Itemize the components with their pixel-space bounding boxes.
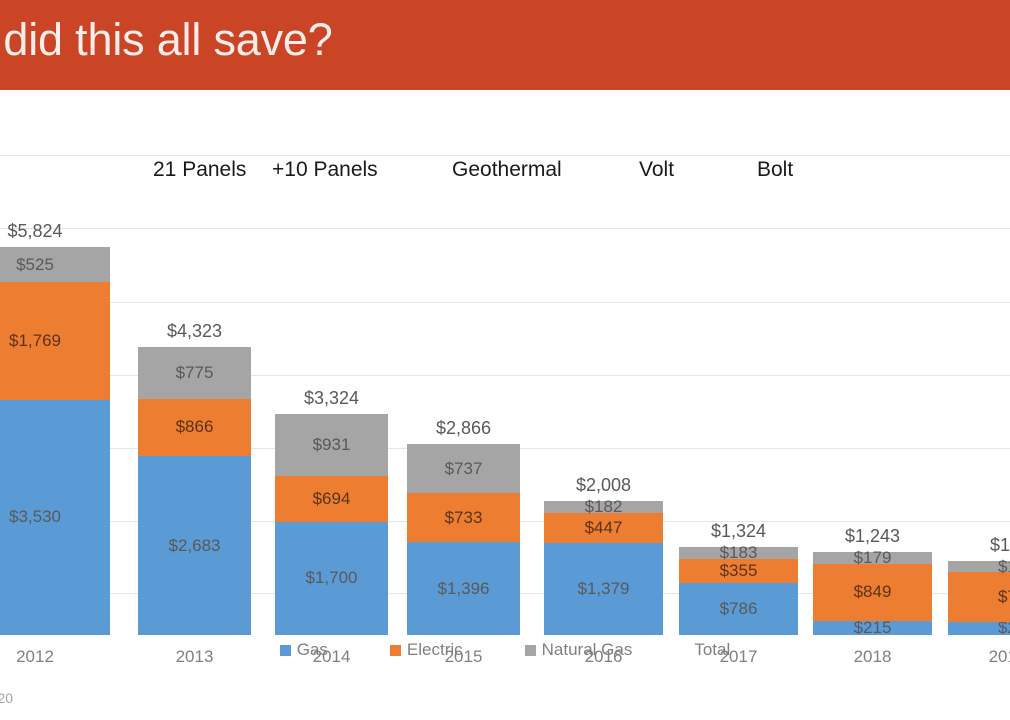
page-title: at did this all save? — [0, 14, 333, 66]
bar-segment-label: $447 — [585, 518, 623, 538]
bar-segment-electric-2019[interactable]: $7 — [948, 572, 1010, 621]
legend-label: Natural Gas — [542, 640, 633, 660]
bar-total-label-2013: $4,323 — [138, 321, 251, 342]
bar-group-2016[interactable]: $1,379$447$182$2,0082016 — [544, 132, 663, 635]
bar-segment-label: $775 — [176, 363, 214, 383]
bar-segment-electric-2013[interactable]: $866 — [138, 399, 251, 457]
legend-item-gas[interactable]: Gas — [280, 640, 328, 660]
bar-segment-label: $1,700 — [306, 568, 358, 588]
annotation-21-panels: 21 Panels — [153, 158, 246, 182]
bar-segment-natural_gas-2015[interactable]: $737 — [407, 444, 520, 493]
bar-group-2018[interactable]: $215$849$179$1,2432018 — [813, 132, 932, 635]
bar-total-label-2014: $3,324 — [275, 388, 388, 409]
bar-group-2013[interactable]: $2,683$866$775$4,3232013 — [138, 132, 251, 635]
bar-segment-electric-2014[interactable]: $694 — [275, 476, 388, 522]
bar-total-label-2015: $2,866 — [407, 418, 520, 439]
bar-segment-label: $694 — [313, 489, 351, 509]
legend-swatch-icon — [280, 645, 291, 656]
bar-total-label-2018: $1,243 — [813, 526, 932, 547]
bar-segment-label: $2,683 — [169, 536, 221, 556]
bar-segment-gas-2016[interactable]: $1,379 — [544, 543, 663, 635]
bar-segment-natural_gas-2016[interactable]: $182 — [544, 501, 663, 513]
bar-segment-gas-2013[interactable]: $2,683 — [138, 456, 251, 635]
annotation-bolt: Bolt — [757, 158, 793, 182]
bar-segment-label: $1,769 — [9, 331, 61, 351]
bar-segment-gas-2014[interactable]: $1,700 — [275, 522, 388, 635]
legend-item-natural-gas[interactable]: Natural Gas — [525, 640, 633, 660]
bar-segment-label: $355 — [720, 561, 758, 581]
bar-segment-label: $737 — [445, 459, 483, 479]
bar-segment-gas-2015[interactable]: $1,396 — [407, 542, 520, 635]
bar-group-2017[interactable]: $786$355$183$1,3242017 — [679, 132, 798, 635]
chart-legend: GasElectricNatural GasTotal — [0, 636, 1010, 664]
slide-footer-date: /2020 — [0, 690, 13, 706]
bar-segment-natural_gas-2012[interactable]: $525 — [0, 247, 110, 282]
bar-segment-label: $1,396 — [438, 579, 490, 599]
bar-segment-electric-2016[interactable]: $447 — [544, 513, 663, 543]
bar-total-label-2017: $1,324 — [679, 521, 798, 542]
bar-segment-natural_gas-2017[interactable]: $183 — [679, 547, 798, 559]
legend-label: Electric — [407, 640, 463, 660]
legend-item-electric[interactable]: Electric — [390, 640, 463, 660]
bar-segment-label: $1,379 — [578, 579, 630, 599]
bar-segment-electric-2018[interactable]: $849 — [813, 564, 932, 621]
legend-item-total[interactable]: Total — [694, 640, 730, 660]
bar-segment-label: $7 — [998, 587, 1010, 607]
bar-group-2012[interactable]: $3,530$1,769$525$5,8242012 — [0, 132, 110, 635]
annotation-volt: Volt — [639, 158, 674, 182]
bar-segment-natural_gas-2019[interactable]: $1 — [948, 561, 1010, 572]
bar-segment-label: $215 — [854, 618, 892, 638]
bar-segment-label: $866 — [176, 417, 214, 437]
bar-segment-label: $849 — [854, 582, 892, 602]
bar-segment-label: $786 — [720, 599, 758, 619]
bar-segment-gas-2019[interactable]: $2 — [948, 622, 1010, 635]
bar-segment-gas-2017[interactable]: $786 — [679, 583, 798, 635]
bar-segment-label: $733 — [445, 508, 483, 528]
legend-swatch-icon — [390, 645, 401, 656]
bar-segment-label: $525 — [16, 255, 54, 275]
bar-group-2019[interactable]: $2$7$1$1,12019 — [948, 132, 1010, 635]
bar-segment-label: $3,530 — [9, 507, 61, 527]
bar-group-2014[interactable]: $1,700$694$931$3,3242014 — [275, 132, 388, 635]
bar-total-label-2019: $1,1 — [948, 535, 1010, 556]
legend-label: Gas — [297, 640, 328, 660]
bar-segment-gas-2018[interactable]: $215 — [813, 621, 932, 635]
legend-swatch-icon — [525, 645, 536, 656]
bar-segment-gas-2012[interactable]: $3,530 — [0, 400, 110, 635]
slide-header-band: at did this all save? — [0, 0, 1010, 90]
bar-segment-electric-2012[interactable]: $1,769 — [0, 282, 110, 400]
bar-segment-natural_gas-2014[interactable]: $931 — [275, 414, 388, 476]
bar-segment-natural_gas-2013[interactable]: $775 — [138, 347, 251, 399]
annotation-10-panels: +10 Panels — [272, 158, 378, 182]
bar-group-2015[interactable]: $1,396$733$737$2,8662015 — [407, 132, 520, 635]
legend-label: Total — [694, 640, 730, 660]
bar-segment-natural_gas-2018[interactable]: $179 — [813, 552, 932, 564]
bar-segment-label: $183 — [720, 543, 758, 563]
bar-segment-electric-2015[interactable]: $733 — [407, 493, 520, 542]
bar-total-label-2012: $5,824 — [0, 221, 110, 242]
bar-chart: $3,530$1,769$525$5,8242012$2,683$866$775… — [0, 90, 1010, 635]
bar-segment-label: $1 — [998, 557, 1010, 577]
bar-segment-label: $179 — [854, 548, 892, 568]
bar-total-label-2016: $2,008 — [544, 475, 663, 496]
bar-segment-label: $182 — [585, 497, 623, 517]
bar-segment-label: $931 — [313, 435, 351, 455]
annotation-geothermal: Geothermal — [452, 158, 562, 182]
